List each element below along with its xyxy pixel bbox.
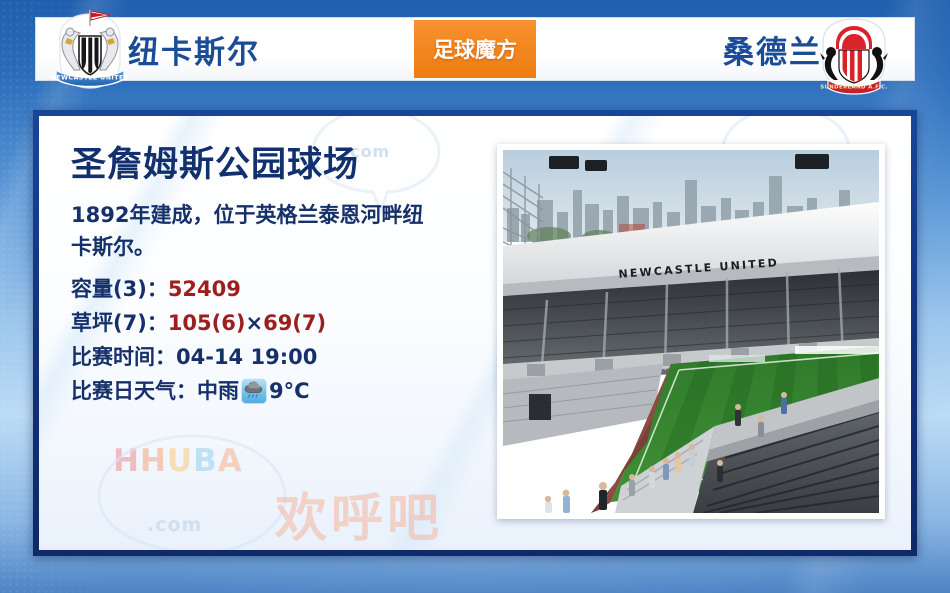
rain-cloud-icon: [241, 378, 267, 404]
watermark-brand-latin: HHUBA: [113, 443, 243, 479]
pitch-row: 草坪(7) ： 105(6) × 69(7): [71, 306, 491, 340]
st-james-park-stadium-photo: NEWCASTLE UNITED: [503, 150, 879, 513]
match-time-colon: ：: [155, 340, 176, 374]
watermark-domain-lower: .com: [147, 514, 202, 536]
home-team-name: 纽卡斯尔: [128, 27, 260, 72]
sunderland-afc-crest-icon: SUNDERLAND A.F.C.: [812, 12, 896, 98]
capacity-label: 容量(3): [71, 272, 147, 306]
match-header-bar: 纽卡斯尔 足球魔方 桑德兰: [35, 17, 915, 81]
capacity-row: 容量(3) ： 52409: [71, 272, 491, 306]
weather-condition: 中雨: [197, 374, 239, 408]
app-root: 纽卡斯尔 足球魔方 桑德兰: [0, 0, 950, 593]
match-time-row: 比赛时间 ： 04-14 19:00: [71, 340, 491, 374]
capacity-colon: ：: [147, 272, 168, 306]
capacity-value: 52409: [168, 272, 241, 306]
stadium-description: 1892年建成，位于英格兰泰恩河畔纽卡斯尔。: [71, 200, 443, 264]
match-time-label: 比赛时间: [71, 340, 155, 374]
temperature-value: 9°C: [269, 374, 310, 408]
pitch-width: 69(7): [263, 306, 326, 340]
site-logo-text: 足球魔方: [433, 34, 517, 64]
weather-colon: ：: [176, 374, 197, 408]
site-logo[interactable]: 足球魔方: [414, 20, 536, 78]
newcastle-united-crest-icon: NEWCASTLE UNITED: [48, 8, 132, 94]
away-team-name: 桑德兰: [723, 27, 822, 72]
stadium-info-panel: .com .com HHUBA .com 欢呼吧 HHUBA 圣詹姆斯公园球场 …: [33, 110, 917, 556]
pitch-colon: ：: [147, 306, 168, 340]
svg-text:NEWCASTLE UNITED: NEWCASTLE UNITED: [51, 75, 130, 82]
pitch-label: 草坪(7): [71, 306, 147, 340]
weather-label: 比赛日天气: [71, 374, 176, 408]
weather-row: 比赛日天气 ： 中雨 9°C: [71, 374, 491, 408]
svg-text:SUNDERLAND A.F.C.: SUNDERLAND A.F.C.: [820, 85, 888, 91]
match-time-value: 04-14 19:00: [176, 340, 317, 374]
pitch-times-symbol: ×: [245, 306, 263, 340]
stadium-photo-frame: NEWCASTLE UNITED: [497, 144, 885, 519]
watermark-bubble-icon-lower: [87, 426, 297, 556]
watermark-brand-cn: 欢呼吧: [275, 476, 443, 551]
stadium-details: 圣詹姆斯公园球场 1892年建成，位于英格兰泰恩河畔纽卡斯尔。 容量(3) ： …: [71, 144, 491, 408]
stadium-title: 圣詹姆斯公园球场: [71, 144, 491, 186]
pitch-length: 105(6): [168, 306, 246, 340]
